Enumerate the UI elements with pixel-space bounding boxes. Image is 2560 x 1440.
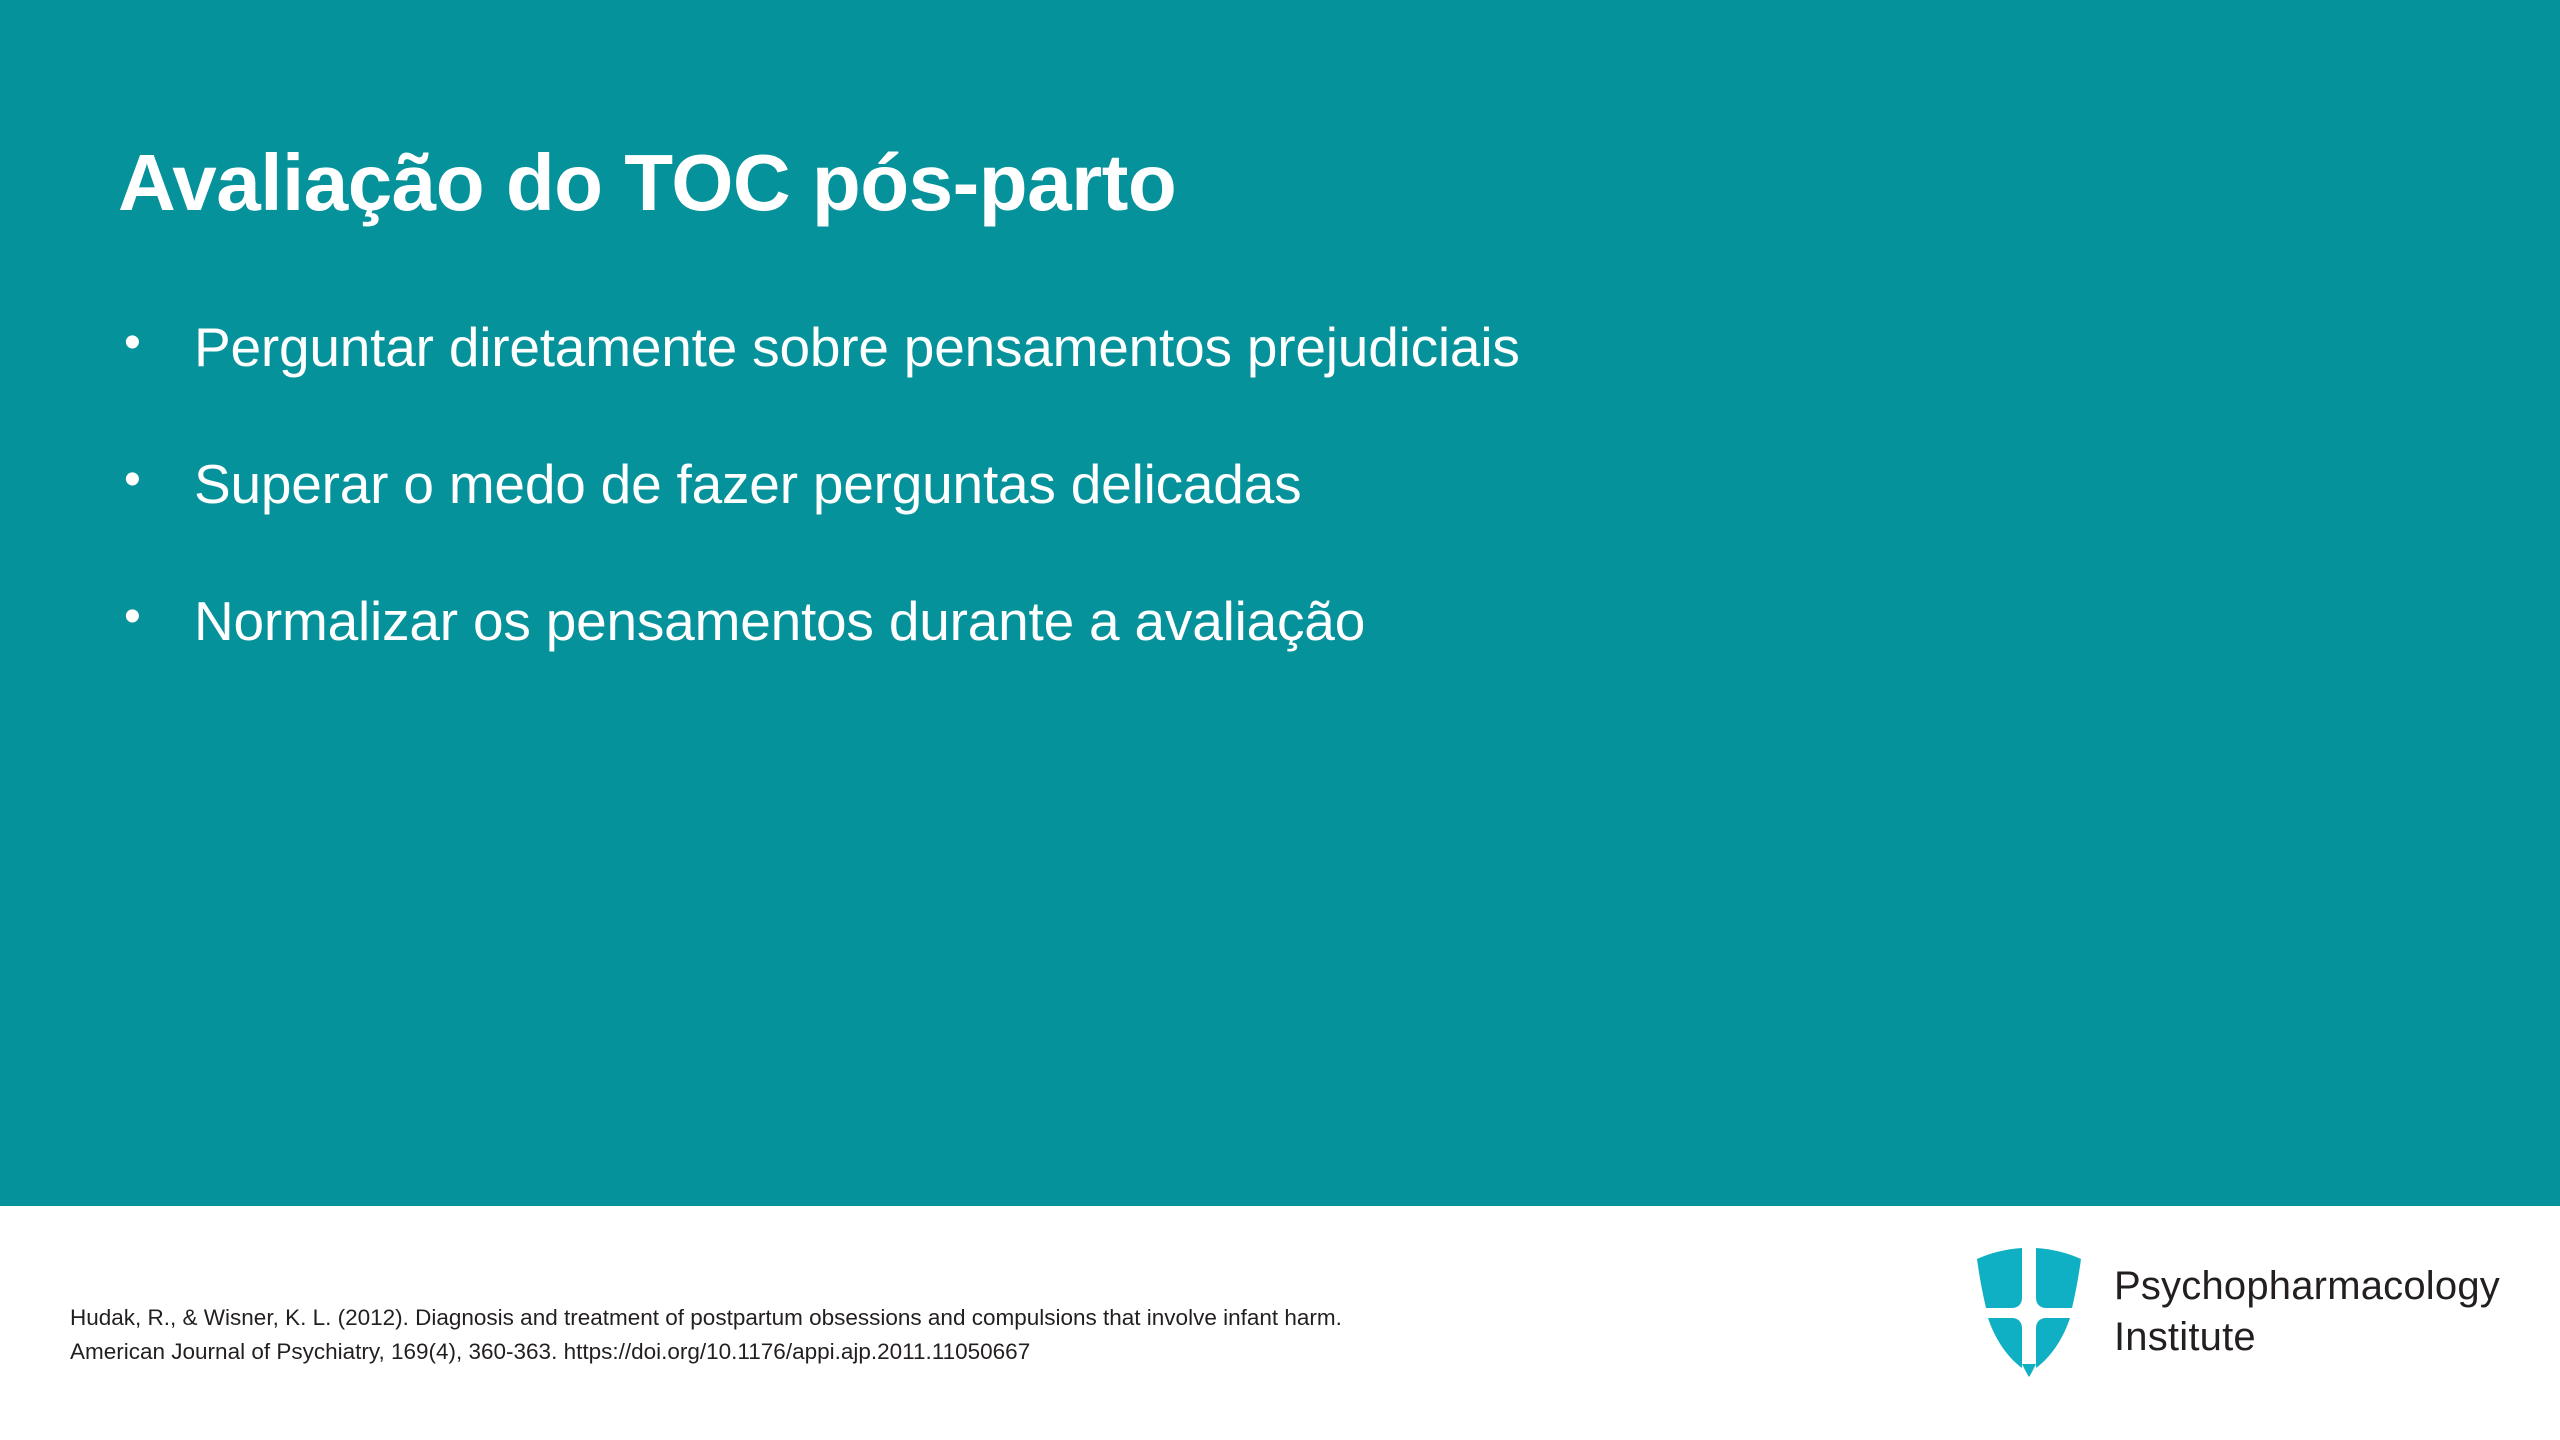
bullet-list: • Perguntar diretamente sobre pensamento…	[118, 315, 2398, 726]
bullet-text: Superar o medo de fazer perguntas delica…	[194, 452, 2398, 517]
bullet-point-icon: •	[118, 589, 194, 646]
list-item: • Superar o medo de fazer perguntas deli…	[118, 452, 2398, 517]
list-item: • Perguntar diretamente sobre pensamento…	[118, 315, 2398, 380]
bullet-text: Normalizar os pensamentos durante a aval…	[194, 589, 2398, 654]
bullet-text: Perguntar diretamente sobre pensamentos …	[194, 315, 2398, 380]
slide-content-panel: Avaliação do TOC pós-parto • Perguntar d…	[0, 0, 2560, 1206]
brand-lockup: Psychopharmacology Institute	[1974, 1246, 2500, 1378]
bullet-point-icon: •	[118, 452, 194, 509]
page-title: Avaliação do TOC pós-parto	[118, 139, 2318, 227]
list-item: • Normalizar os pensamentos durante a av…	[118, 589, 2398, 654]
citation-reference: Hudak, R., & Wisner, K. L. (2012). Diagn…	[70, 1301, 1420, 1371]
brand-name: Psychopharmacology Institute	[2114, 1261, 2500, 1363]
slide-footer: Hudak, R., & Wisner, K. L. (2012). Diagn…	[0, 1206, 2560, 1440]
shield-cross-icon	[1974, 1246, 2084, 1378]
presentation-slide: Avaliação do TOC pós-parto • Perguntar d…	[0, 0, 2560, 1440]
bullet-point-icon: •	[118, 315, 194, 372]
